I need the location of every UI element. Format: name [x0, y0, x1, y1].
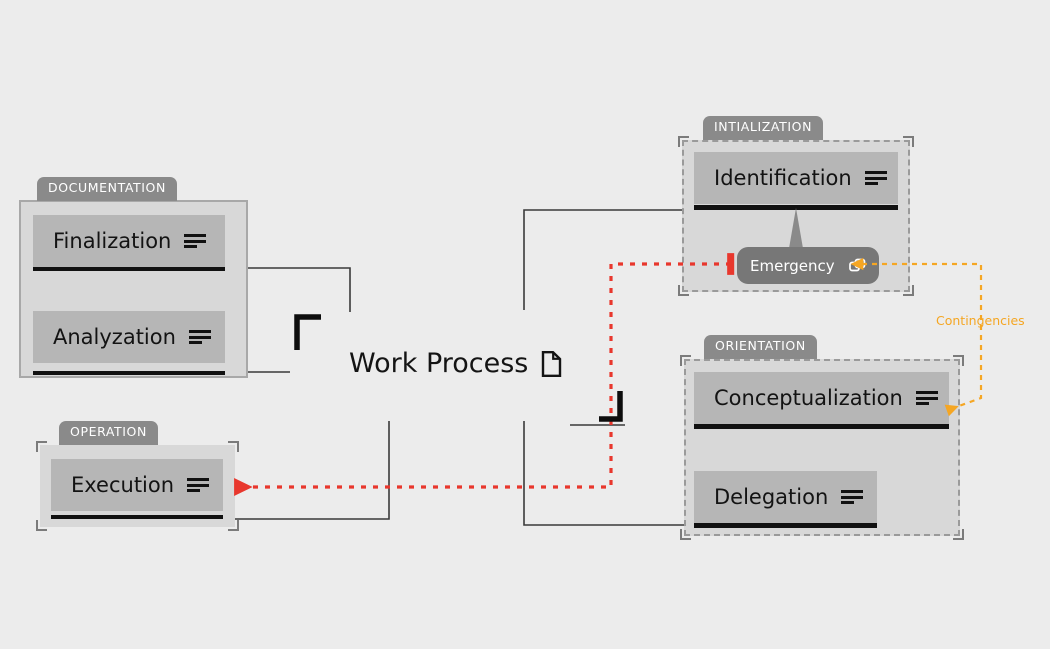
elbow-marker-right: [599, 391, 620, 419]
connector-layer-foreground: [0, 0, 1050, 649]
contingencies-label: Contingencies: [936, 313, 1025, 328]
diagram-canvas: DOCUMENTATION Finalization Analyzation O…: [0, 0, 1050, 649]
connector-emergency-to-execution[interactable]: [236, 264, 731, 487]
elbow-marker-left: [297, 317, 321, 350]
connector-contingencies[interactable]: [862, 264, 981, 410]
